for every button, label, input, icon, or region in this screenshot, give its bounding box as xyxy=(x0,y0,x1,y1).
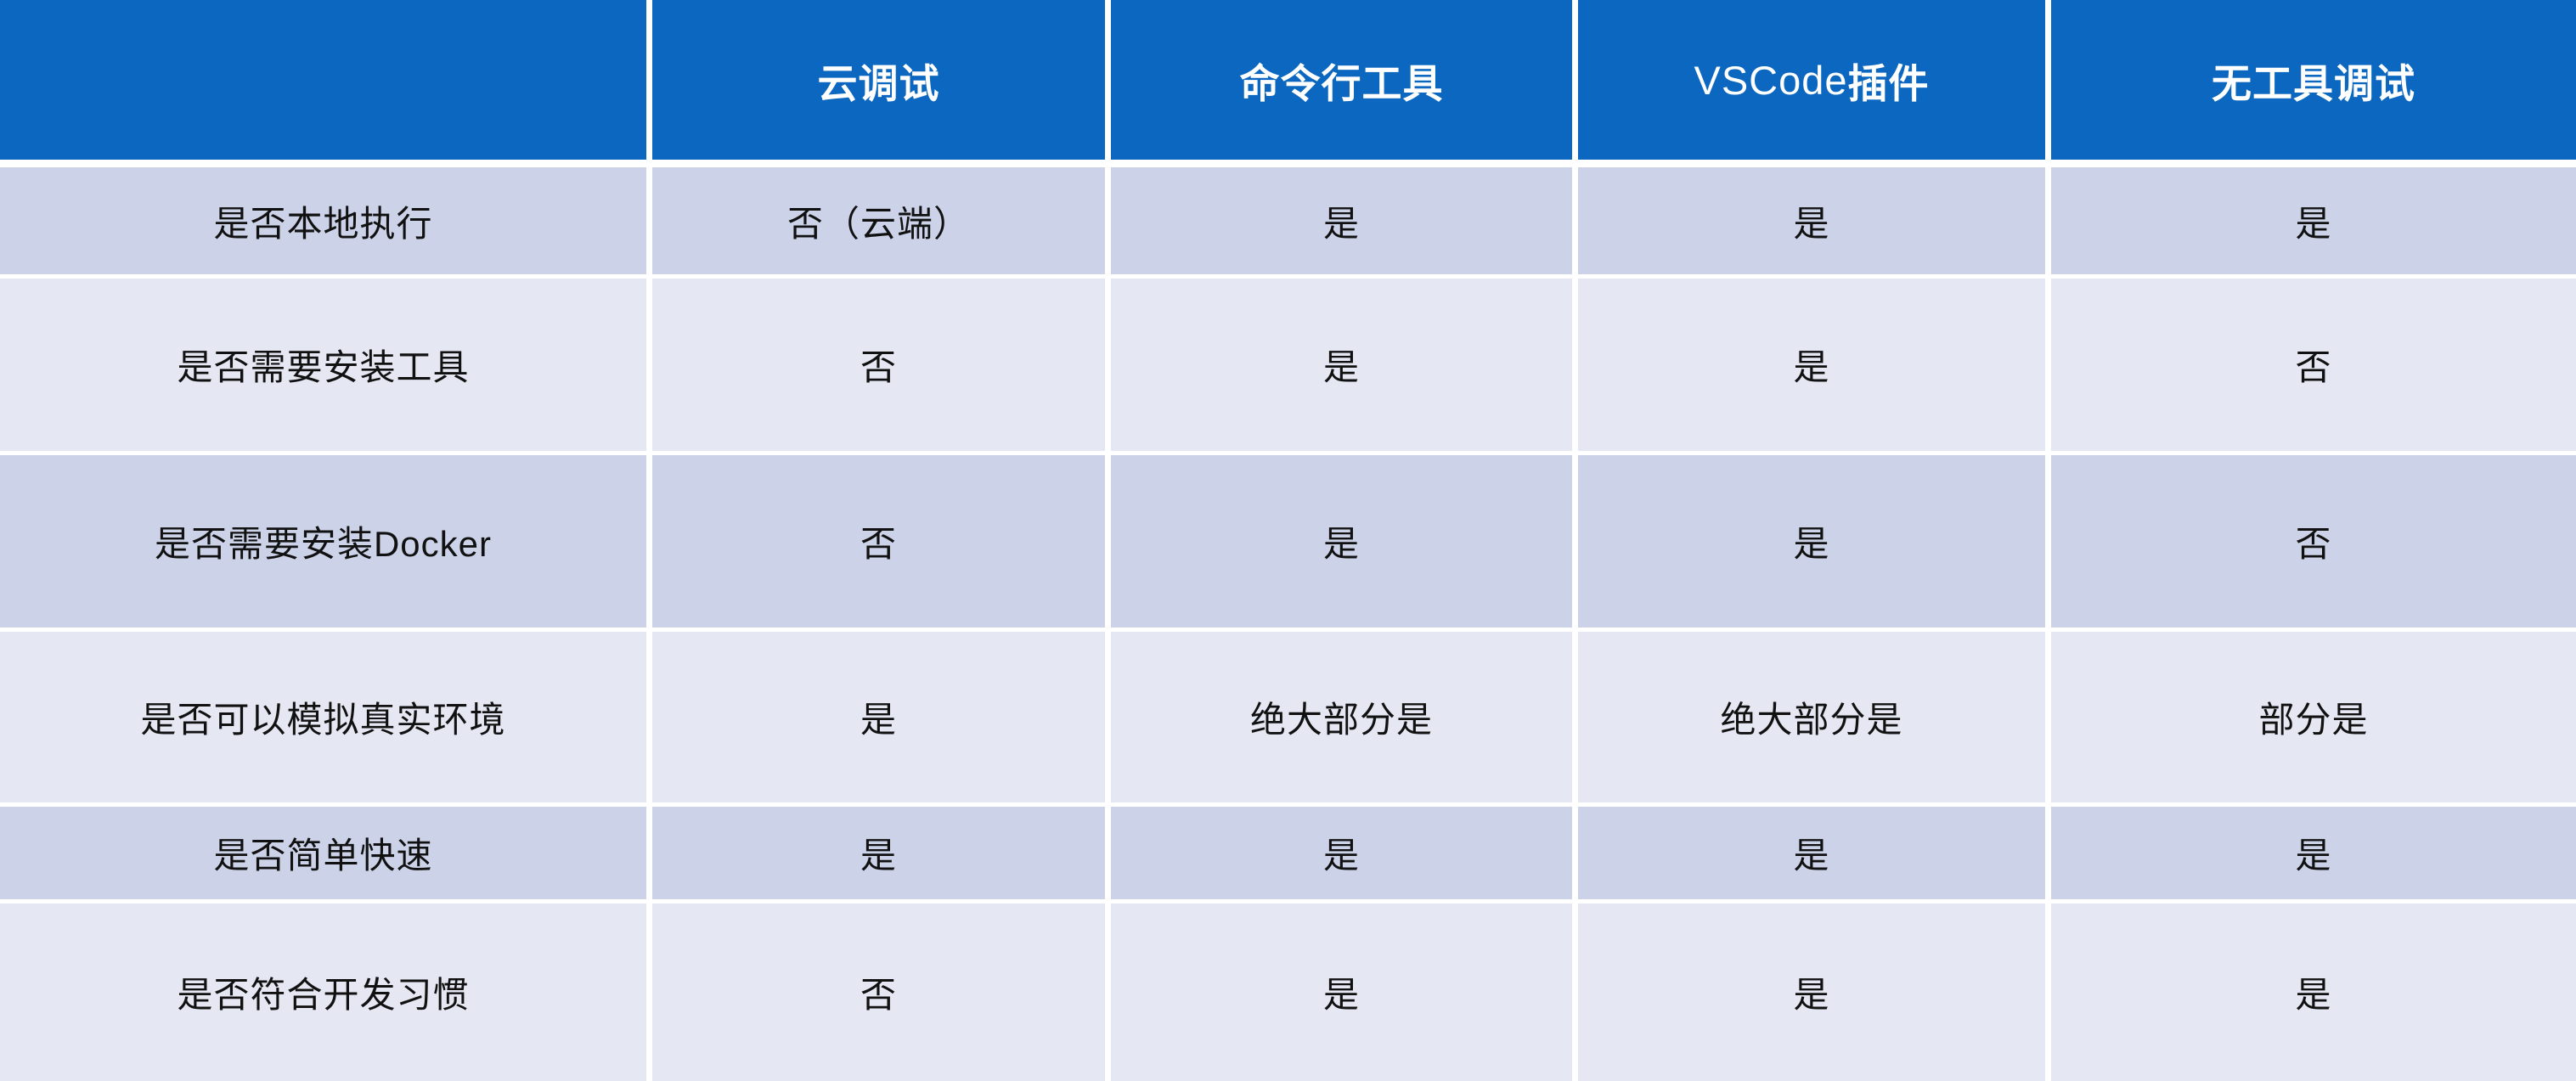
cell-feature: 是否需要安装Docker xyxy=(0,455,652,632)
cell-cli-tool: 是 xyxy=(1111,167,1578,279)
cell-feature: 是否符合开发习惯 xyxy=(0,904,652,1081)
cell-cli-tool: 是 xyxy=(1111,279,1578,455)
table-row: 是否需要安装工具 否 是 是 否 xyxy=(0,279,2576,455)
cell-cli-tool: 是 xyxy=(1111,904,1578,1081)
cell-feature: 是否简单快速 xyxy=(0,807,652,904)
cell-vscode-ext: 是 xyxy=(1578,807,2051,904)
cell-feature: 是否需要安装工具 xyxy=(0,279,652,455)
cell-vscode-ext: 绝大部分是 xyxy=(1578,632,2051,807)
cell-no-tool-debug: 是 xyxy=(2051,167,2576,279)
table-row: 是否需要安装Docker 否 是 是 否 xyxy=(0,455,2576,632)
table-row: 是否符合开发习惯 否 是 是 是 xyxy=(0,904,2576,1081)
cell-cloud-debug: 否 xyxy=(652,904,1111,1081)
cell-vscode-ext: 是 xyxy=(1578,904,2051,1081)
cell-no-tool-debug: 是 xyxy=(2051,904,2576,1081)
header-cell-vscode-extension: VSCode插件 xyxy=(1578,0,2051,167)
cell-cloud-debug: 否 xyxy=(652,455,1111,632)
header-cell-corner xyxy=(0,0,652,167)
header-cell-no-tool-debug: 无工具调试 xyxy=(2051,0,2576,167)
cell-no-tool-debug: 是 xyxy=(2051,807,2576,904)
cell-feature: 是否可以模拟真实环境 xyxy=(0,632,652,807)
table-row: 是否简单快速 是 是 是 是 xyxy=(0,807,2576,904)
cell-cli-tool: 是 xyxy=(1111,455,1578,632)
header-cell-vscode-extension-cjk: 插件 xyxy=(1848,51,1930,110)
cell-cli-tool: 是 xyxy=(1111,807,1578,904)
header-cell-cloud-debug: 云调试 xyxy=(652,0,1111,167)
cell-cli-tool: 绝大部分是 xyxy=(1111,632,1578,807)
table-body: 是否本地执行 否（云端） 是 是 是 是否需要安装工具 否 是 是 否 是否需要… xyxy=(0,167,2576,1081)
cell-vscode-ext: 是 xyxy=(1578,167,2051,279)
cell-cloud-debug: 是 xyxy=(652,807,1111,904)
header-cell-cli-tool: 命令行工具 xyxy=(1111,0,1578,167)
cell-vscode-ext: 是 xyxy=(1578,455,2051,632)
table-row: 是否本地执行 否（云端） 是 是 是 xyxy=(0,167,2576,279)
comparison-table: 云调试 命令行工具 VSCode插件 无工具调试 是否本地执行 否（云端） 是 … xyxy=(0,0,2576,1081)
cell-no-tool-debug: 部分是 xyxy=(2051,632,2576,807)
cell-feature: 是否本地执行 xyxy=(0,167,652,279)
cell-no-tool-debug: 否 xyxy=(2051,279,2576,455)
cell-cloud-debug: 否（云端） xyxy=(652,167,1111,279)
header-cell-vscode-extension-latin: VSCode xyxy=(1694,57,1847,104)
cell-vscode-ext: 是 xyxy=(1578,279,2051,455)
table-header-row: 云调试 命令行工具 VSCode插件 无工具调试 xyxy=(0,0,2576,167)
cell-no-tool-debug: 否 xyxy=(2051,455,2576,632)
cell-cloud-debug: 否 xyxy=(652,279,1111,455)
cell-cloud-debug: 是 xyxy=(652,632,1111,807)
table-row: 是否可以模拟真实环境 是 绝大部分是 绝大部分是 部分是 xyxy=(0,632,2576,807)
